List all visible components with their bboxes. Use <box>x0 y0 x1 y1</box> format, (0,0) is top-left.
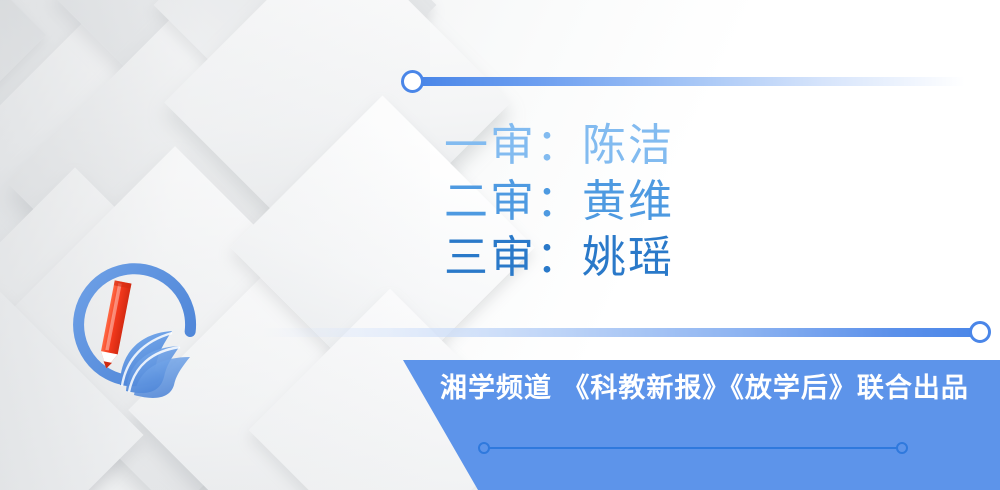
credits-block: 一审：陈洁 二审：黄维 三审：姚瑶 <box>444 118 914 286</box>
xiangxue-channel-logo <box>52 243 220 411</box>
credit-line-second-review: 二审：黄维 <box>444 174 914 230</box>
credit-line-third-review: 三审：姚瑶 <box>444 230 914 286</box>
banner-accent-circle-left-icon <box>478 442 490 454</box>
credit-card-image: 一审：陈洁 二审：黄维 三审：姚瑶 湘学频道 《科教新报》《放学后》联合出品 <box>0 0 1000 490</box>
top-accent-line <box>420 77 965 86</box>
top-accent-circle-icon <box>401 70 424 93</box>
mid-accent-circle-icon <box>969 321 991 343</box>
banner-accent-circle-right-icon <box>896 442 908 454</box>
credit-line-first-review: 一审：陈洁 <box>444 118 914 174</box>
banner-accent-line <box>488 447 902 449</box>
banner-producer-text: 湘学频道 《科教新报》《放学后》联合出品 <box>440 371 985 407</box>
mid-accent-line <box>262 328 980 337</box>
